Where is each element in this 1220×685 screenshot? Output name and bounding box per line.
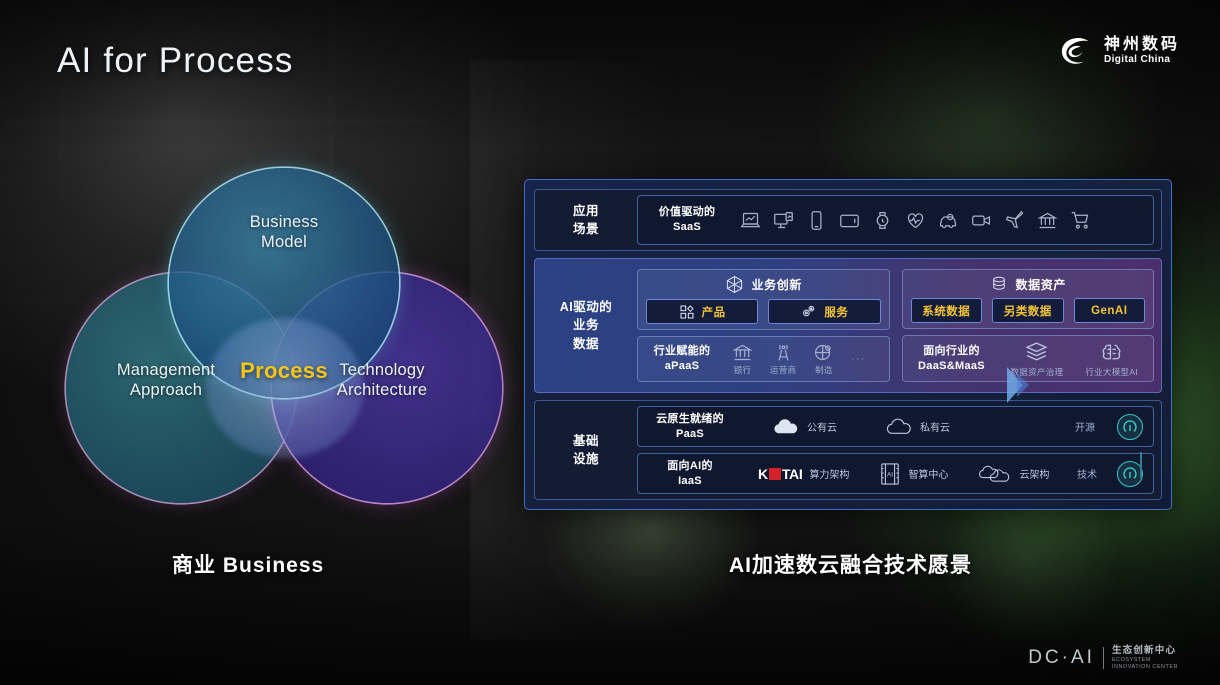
- database-icon: [990, 275, 1008, 293]
- shopping-cart-icon: [1070, 210, 1091, 231]
- iaas-item-cloud-arch: 云架构: [978, 464, 1049, 484]
- svg-text:AI: AI: [887, 471, 893, 478]
- brain-network-icon: [1099, 340, 1124, 365]
- bank-icon: [1037, 210, 1058, 231]
- video-camera-icon: [971, 210, 992, 231]
- smartwatch-icon: [872, 210, 893, 231]
- caption-tech-vision: AI加速数云融合技术愿景: [729, 549, 972, 579]
- venn-label-process: Process: [184, 358, 384, 384]
- business-innovation-title: 业务创新: [752, 276, 802, 293]
- footer-en-1: ECOSYSTEM: [1112, 657, 1178, 664]
- chip-genai-label: GenAI: [1091, 305, 1127, 317]
- footer-cn: 生态创新中心: [1112, 645, 1178, 657]
- chip-genai[interactable]: GenAI: [1074, 298, 1146, 323]
- opensource-ring-icon: [1122, 419, 1138, 435]
- center-arrow-icon: [1007, 363, 1033, 407]
- kuntai-logo-icon: KUTAI: [758, 466, 802, 482]
- laptop-chart-icon: [740, 210, 761, 231]
- factory-gear-icon: [813, 342, 834, 363]
- data-assets-section: 数据资产 系统数据 另类数据 GenAI: [902, 269, 1155, 329]
- opensource-ring-icon: [1122, 466, 1138, 482]
- cloud-native-paas-row: 云原生就绪的 PaaS 公有云 私有云 开源: [637, 406, 1154, 447]
- footer-divider: [1103, 647, 1104, 669]
- layered-data-icon: [1024, 340, 1049, 365]
- daas-item-industry-llm: 行业大模型AI: [1085, 340, 1138, 378]
- apaas-item-bank: 银行: [732, 342, 753, 376]
- brand-logo: 神州数码 Digital China: [1059, 36, 1180, 66]
- layer-label-application-scenarios: 应用 场景: [535, 190, 637, 250]
- venn-label-business-model: BusinessModel: [214, 212, 354, 252]
- layer-label-ai-driven-business-data: AI驱动的 业务 数据: [535, 259, 637, 392]
- blocks-icon: [679, 304, 695, 320]
- slide-title: AI for Process: [57, 41, 294, 81]
- venn-diagram: BusinessModel ManagementApproach Technol…: [66, 168, 456, 508]
- apaas-item-operator: 运营商: [770, 342, 796, 376]
- iaas-badge-label: 技术: [1077, 466, 1097, 481]
- layer-ai-driven-business-data: AI驱动的 业务 数据 业务创新 产品: [534, 258, 1162, 393]
- cube-mesh-icon: [725, 275, 744, 294]
- business-innovation-section: 业务创新 产品 服务: [637, 269, 890, 330]
- chip-system-data-label: 系统数据: [922, 303, 970, 319]
- iaas-item-ai-compute-center: AI 智算中心: [879, 462, 948, 486]
- logo-text-en: Digital China: [1104, 54, 1180, 65]
- iaas-tag: 面向AI的 IaaS: [650, 459, 730, 489]
- bank-icon: [732, 342, 753, 363]
- cloud-filled-icon: [772, 417, 799, 437]
- multi-cloud-icon: [978, 464, 1012, 484]
- opensource-badge: [1117, 414, 1143, 440]
- cloud-outline-icon: [885, 417, 912, 437]
- heartbeat-icon: [905, 210, 926, 231]
- car-icon: [938, 210, 959, 231]
- apaas-row: 行业赋能的 aPaaS 银行 运营商: [637, 336, 890, 382]
- gears-icon: [800, 303, 817, 320]
- business-innovation-group: 业务创新 产品 服务 行业赋能的: [637, 264, 895, 387]
- layer-infrastructure: 基础 设施 云原生就绪的 PaaS 公有云 私: [534, 400, 1162, 500]
- ai-server-rack-icon: AI: [879, 462, 901, 486]
- footer-dc-ai: DC·AI: [1028, 647, 1095, 669]
- technology-vision-panel: 应用 场景 价值驱动的 SaaS: [524, 179, 1172, 510]
- paas-item-public-cloud: 公有云: [772, 417, 837, 437]
- chip-alternative-data-label: 另类数据: [1004, 303, 1052, 319]
- iaas-item-compute-arch: KUTAI 算力架构: [758, 466, 849, 482]
- galaxy-swirl-logo-icon: [1059, 36, 1095, 66]
- chip-service[interactable]: 服务: [768, 299, 880, 324]
- chip-alternative-data[interactable]: 另类数据: [992, 298, 1064, 323]
- chip-service-label: 服务: [824, 304, 848, 320]
- airplane-icon: [1004, 210, 1025, 231]
- paas-badge-label: 开源: [1075, 419, 1095, 434]
- apaas-tag: 行业赋能的 aPaaS: [646, 344, 718, 374]
- layer-label-infrastructure: 基础 设施: [535, 401, 637, 499]
- desktop-analytics-icon: [773, 210, 794, 231]
- paas-item-private-cloud: 私有云: [885, 417, 950, 437]
- badge-connector-line: [1140, 452, 1142, 478]
- apaas-more-dots: ···: [851, 353, 865, 365]
- footer-logo: DC·AI 生态创新中心 ECOSYSTEM INNOVATION CENTER: [1028, 645, 1178, 671]
- smartphone-icon: [806, 210, 827, 231]
- chip-product-label: 产品: [702, 304, 726, 320]
- caption-business: 商业 Business: [172, 549, 324, 579]
- tablet-icon: [839, 210, 860, 231]
- apaas-item-manufacturing: 制造: [813, 342, 834, 376]
- layer-application-scenarios: 应用 场景 价值驱动的 SaaS: [534, 189, 1162, 251]
- logo-text-cn: 神州数码: [1104, 37, 1180, 54]
- chip-system-data[interactable]: 系统数据: [911, 298, 983, 323]
- scenario-icon-row: [740, 210, 1091, 231]
- chip-product[interactable]: 产品: [646, 299, 758, 324]
- antenna-tower-icon: [773, 342, 794, 363]
- saas-tag: 价值驱动的 SaaS: [650, 205, 724, 235]
- data-assets-title: 数据资产: [1016, 276, 1066, 293]
- footer-en-2: INNOVATION CENTER: [1112, 664, 1178, 671]
- saas-scenario-box: 价值驱动的 SaaS: [637, 195, 1154, 245]
- daas-maas-tag: 面向行业的 DaaS&MaaS: [911, 344, 993, 374]
- paas-tag: 云原生就绪的 PaaS: [650, 412, 730, 442]
- ai-oriented-iaas-row: 面向AI的 IaaS KUTAI 算力架构 AI 智算中心: [637, 453, 1154, 494]
